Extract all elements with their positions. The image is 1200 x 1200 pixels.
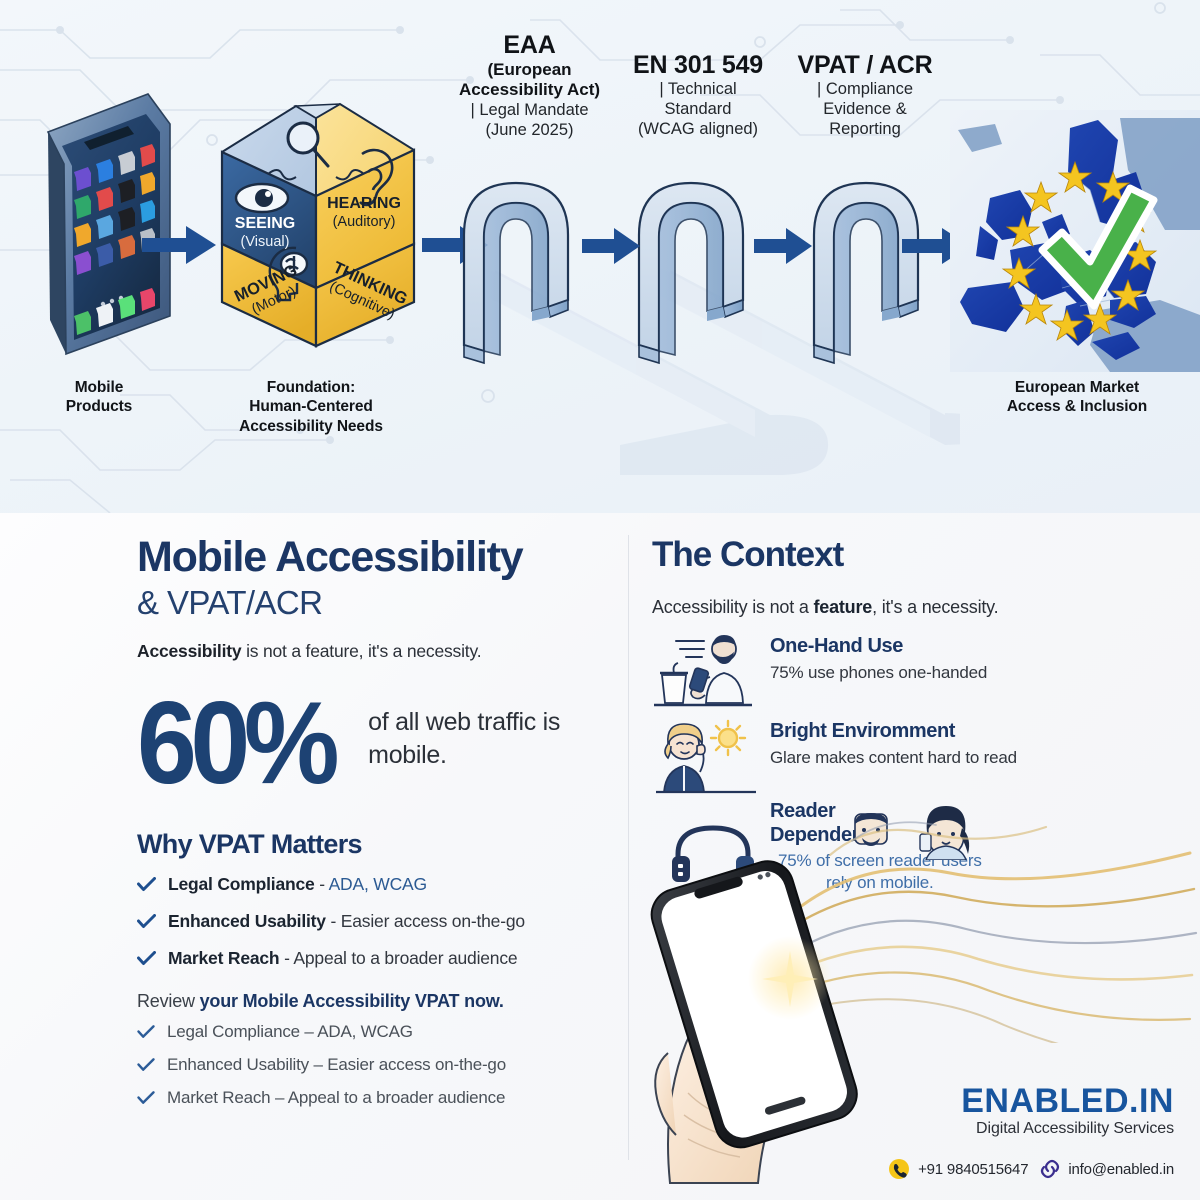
puzzle-sub-hearing: (Auditory) (333, 214, 396, 230)
stat-caption: of all web traffic is mobile. (368, 706, 607, 772)
caption-line: Human-Centered (195, 397, 427, 416)
list-item: Legal Compliance – ADA, WCAG (137, 1022, 607, 1042)
list-item: Market Reach - Appeal to a broader audie… (137, 948, 607, 969)
column-divider (628, 535, 629, 1160)
caption-line: Access & Inclusion (962, 397, 1192, 416)
caption-line: Mobile (28, 378, 170, 397)
check-icon (137, 1025, 155, 1039)
item-text: Market Reach – Appeal to a broader audie… (167, 1088, 505, 1108)
page-subtitle: & VPAT/ACR (137, 582, 607, 623)
context-item-one-hand-use: One-Hand Use 75% use phones one-handed (652, 635, 1112, 684)
compliance-gates (440, 145, 960, 475)
flow-arrow-4 (752, 225, 814, 267)
item-text: Enhanced Usability – Easier access on-th… (167, 1055, 506, 1075)
gate-line: Reporting (770, 120, 960, 140)
context-item-desc: 75% use phones one-handed (770, 662, 1112, 684)
brand-name: ENABLED.IN (961, 1084, 1174, 1118)
left-tagline-bold: Accessibility (137, 641, 241, 661)
caption-mobile-products: Mobile Products (28, 378, 170, 417)
gate-line: (WCAG aligned) (600, 120, 796, 140)
check-icon (137, 914, 156, 929)
gate-line: Accessibility Act) (432, 80, 627, 100)
caption-line: Accessibility Needs (195, 417, 427, 436)
list-item: Market Reach – Appeal to a broader audie… (137, 1088, 607, 1108)
contact-email-text: info@enabled.in (1068, 1161, 1174, 1178)
check-icon (137, 1058, 155, 1072)
puzzle-label-hearing: HEARING (327, 195, 401, 212)
why-vpat-heading: Why VPAT Matters (137, 829, 607, 860)
europe-map-illustration (950, 110, 1200, 372)
caption-line: Foundation: (195, 378, 427, 397)
gate-line: | Compliance (770, 80, 960, 100)
gate-line: Standard (600, 100, 796, 120)
brand-logo: ENABLED.IN Digital Accessibility Service… (961, 1084, 1174, 1138)
gate-line: | Technical (600, 80, 796, 100)
man-with-phone-icon (652, 631, 754, 709)
right-column: The Context Accessibility is not a featu… (652, 535, 1122, 618)
review-cta: Review your Mobile Accessibility VPAT no… (137, 991, 607, 1012)
left-tagline: Accessibility is not a feature, it's a n… (137, 641, 607, 662)
ctx-tag-b: , it's a necessity. (872, 597, 998, 617)
check-icon (137, 877, 156, 892)
brand-tagline: Digital Accessibility Services (961, 1120, 1174, 1138)
caption-european-market: European Market Access & Inclusion (962, 378, 1192, 417)
contact-email[interactable]: info@enabled.in (1040, 1159, 1174, 1179)
stat-block: 60% of all web traffic is mobile. (137, 692, 607, 795)
gate-line: | Legal Mandate (432, 101, 627, 121)
gate-title-vpat-acr: VPAT / ACR (770, 50, 960, 80)
item-dash: - (279, 948, 293, 968)
context-item-desc: Glare makes content hard to read (770, 747, 1112, 769)
stat-value: 60% (137, 692, 333, 795)
list-item: Enhanced Usability - Easier access on-th… (137, 911, 607, 932)
review-bold: your Mobile Accessibility VPAT now. (200, 991, 504, 1011)
eye-icon (236, 184, 288, 212)
flow-arrow-3 (580, 225, 642, 267)
context-item-title: One-Hand Use (770, 635, 1112, 659)
item-bold: Market Reach (168, 948, 279, 968)
list-item: Enhanced Usability – Easier access on-th… (137, 1055, 607, 1075)
review-prefix: Review (137, 991, 200, 1011)
left-column: Mobile Accessibility & VPAT/ACR Accessib… (137, 535, 607, 1121)
gate-line: (June 2025) (432, 121, 627, 141)
gate-line: Evidence & (770, 100, 960, 120)
hand-holding-phone-illustration (640, 843, 970, 1188)
caption-line: Products (28, 397, 170, 416)
woman-in-sun-icon (654, 716, 758, 794)
list-item: Legal Compliance - ADA, WCAG (137, 874, 607, 895)
context-item-bright-environment: Bright Enviromment Glare makes content h… (652, 720, 1112, 769)
item-bold: Enhanced Usability (168, 911, 326, 931)
contact-phone[interactable]: +91 9840515647 (888, 1158, 1028, 1180)
puzzle-sub-seeing: (Visual) (241, 234, 290, 250)
banner-flow-diagram: SEEING (Visual) HEARING (Auditory) MOVIN… (0, 0, 1200, 513)
contact-phone-text: +91 9840515647 (918, 1161, 1028, 1178)
gate-title-en301549: EN 301 549 (600, 50, 796, 80)
ctx-tag-bold: feature (813, 597, 872, 617)
page-title: Mobile Accessibility (137, 535, 607, 580)
gate-heading-eaa: EAA (European Accessibility Act) | Legal… (432, 30, 627, 140)
caption-foundation: Foundation: Human-Centered Accessibility… (195, 378, 427, 436)
puzzle-label-seeing: SEEING (235, 215, 295, 232)
item-rest: Appeal to a broader audience (293, 948, 517, 968)
review-list: Legal Compliance – ADA, WCAG Enhanced Us… (137, 1022, 607, 1108)
item-dash: - (315, 874, 329, 894)
context-title: The Context (652, 535, 1122, 575)
accessibility-puzzle-cube: SEEING (Visual) HEARING (Auditory) MOVIN… (192, 92, 440, 352)
left-tagline-rest: is not a feature, it's a necessity. (241, 641, 481, 661)
item-rest: ADA, WCAG (329, 874, 427, 894)
gate-heading-vpat-acr: VPAT / ACR | Compliance Evidence & Repor… (770, 50, 960, 139)
item-text: Legal Compliance – ADA, WCAG (167, 1022, 413, 1042)
item-rest: Easier access on-the-go (341, 911, 525, 931)
gate-line: (European (432, 60, 627, 80)
contact-bar: +91 9840515647 info@enabled.in (888, 1158, 1174, 1180)
item-dash: - (326, 911, 341, 931)
context-tagline: Accessibility is not a feature, it's a n… (652, 597, 1122, 618)
why-vpat-list: Legal Compliance - ADA, WCAG Enhanced Us… (137, 874, 607, 969)
gate-title-eaa: EAA (432, 30, 627, 60)
content-panel: Mobile Accessibility & VPAT/ACR Accessib… (0, 513, 1200, 1200)
ctx-tag-a: Accessibility is not a (652, 597, 813, 617)
check-icon (137, 951, 156, 966)
phone-icon (888, 1158, 910, 1180)
gate-heading-en301549: EN 301 549 | Technical Standard (WCAG al… (600, 50, 796, 139)
check-icon (137, 1091, 155, 1105)
caption-line: European Market (962, 378, 1192, 397)
link-icon (1040, 1159, 1060, 1179)
context-item-title: Bright Enviromment (770, 720, 1112, 744)
item-bold: Legal Compliance (168, 874, 315, 894)
